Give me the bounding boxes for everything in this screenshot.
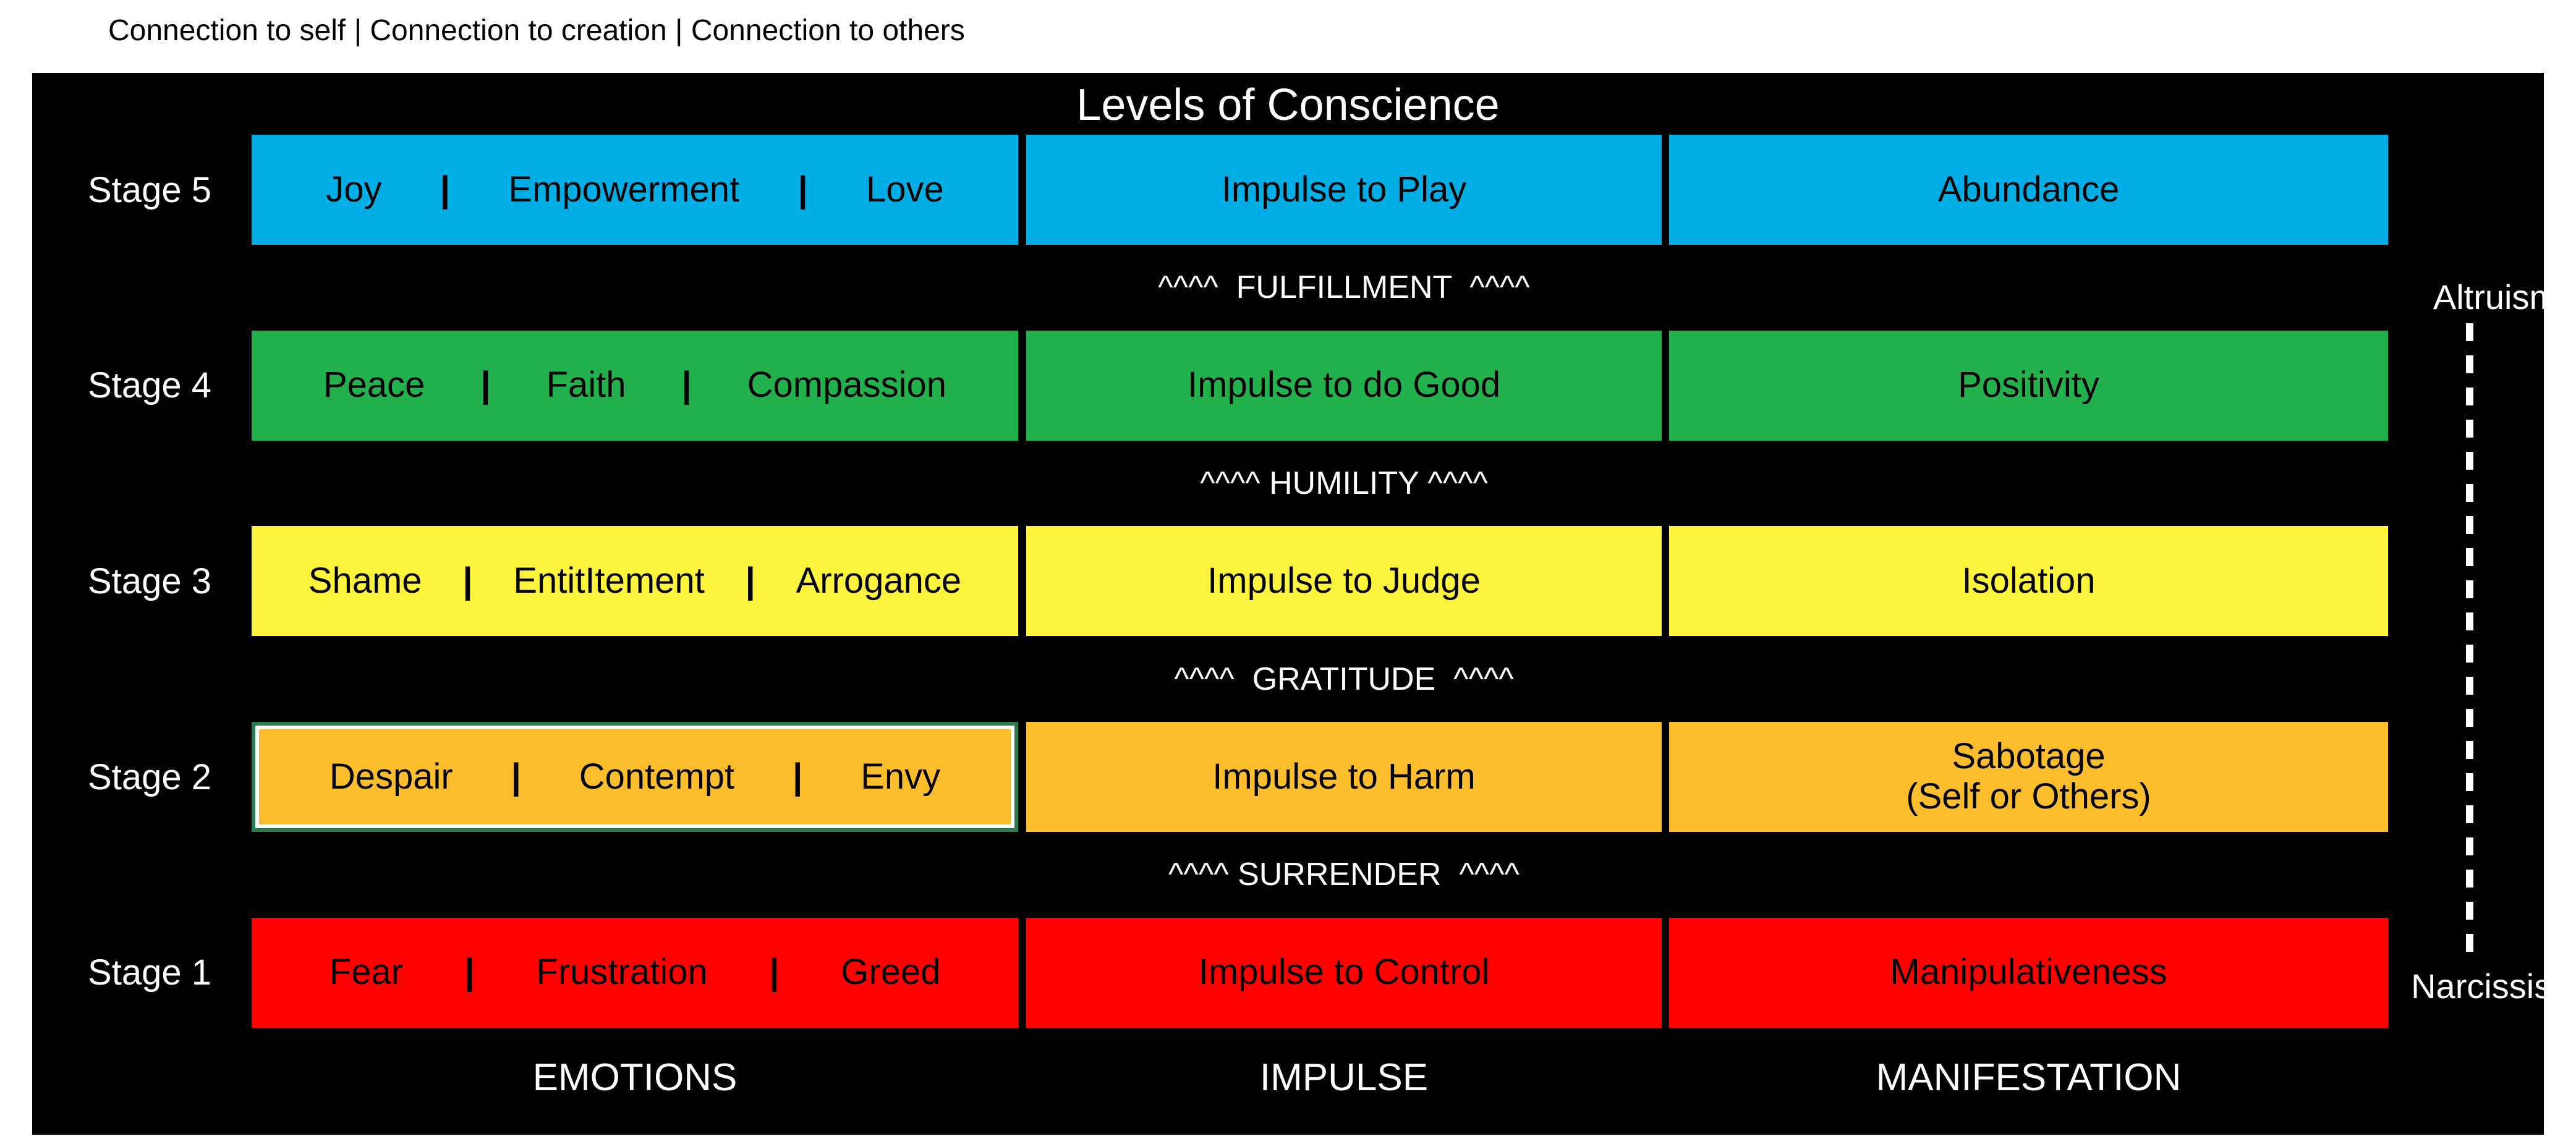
impulse-cell-stage-4[interactable]: Impulse to do Good xyxy=(1026,331,1662,441)
stage-label: Stage 1 xyxy=(57,918,242,1028)
axis-label-altruism: Altruism xyxy=(2394,277,2576,317)
stage-row: Stage 2Despair|Contempt|EnvyImpulse to H… xyxy=(32,722,2544,832)
emotions-cell-stage-5[interactable]: Joy|Empowerment|Love xyxy=(252,135,1018,245)
altruism-narcissism-axis-line xyxy=(2466,323,2473,963)
emotion-word: Frustration xyxy=(476,952,768,993)
emotion-separator: | xyxy=(479,365,491,405)
emotion-separator: | xyxy=(796,170,809,210)
emotion-word: Contempt xyxy=(522,757,791,797)
emotions-cell-stage-2[interactable]: Despair|Contempt|Envy xyxy=(252,722,1018,832)
impulse-cell-stage-1[interactable]: Impulse to Control xyxy=(1026,918,1662,1028)
page-title: Levels of Conscience xyxy=(32,83,2544,127)
emotion-word: Fear xyxy=(269,952,464,993)
stage-label: Stage 5 xyxy=(57,135,242,245)
transition-divider: ^^^^ SURRENDER ^^^^ xyxy=(32,854,2544,896)
stage-label: Stage 4 xyxy=(57,331,242,441)
emotion-word: Empowerment xyxy=(451,170,796,210)
stage-row: Stage 3Shame|EntitItement|ArroganceImpul… xyxy=(32,526,2544,636)
transition-divider-label: ^^^^ GRATITUDE ^^^^ xyxy=(1026,661,1662,698)
emotions-cell-stage-3[interactable]: Shame|EntitItement|Arrogance xyxy=(252,526,1018,636)
levels-of-conscience-chart: Levels of Conscience Stage 5Joy|Empowerm… xyxy=(32,73,2544,1135)
emotion-word: EntitItement xyxy=(474,561,744,601)
stage-label: Stage 3 xyxy=(57,526,242,636)
column-heading-impulse: IMPULSE xyxy=(1026,1049,1662,1105)
transition-divider-label: ^^^^ HUMILITY ^^^^ xyxy=(1026,465,1662,502)
manifestation-cell-stage-5[interactable]: Abundance xyxy=(1669,135,2388,245)
stage-row: Stage 1Fear|Frustration|GreedImpulse to … xyxy=(32,918,2544,1028)
transition-divider: ^^^^ GRATITUDE ^^^^ xyxy=(32,658,2544,700)
emotion-separator: | xyxy=(461,561,474,601)
emotion-word: Arrogance xyxy=(757,561,1001,601)
transition-divider: ^^^^ HUMILITY ^^^^ xyxy=(32,462,2544,504)
emotions-cell-stage-4[interactable]: Peace|Faith|Compassion xyxy=(252,331,1018,441)
emotion-separator: | xyxy=(768,952,780,993)
emotion-word: Shame xyxy=(269,561,461,601)
manifestation-cell-stage-1[interactable]: Manipulativeness xyxy=(1669,918,2388,1028)
stage-row: Stage 5Joy|Empowerment|LoveImpulse to Pl… xyxy=(32,135,2544,245)
impulse-cell-stage-2[interactable]: Impulse to Harm xyxy=(1026,722,1662,832)
emotion-separator: | xyxy=(439,170,451,210)
emotion-separator: | xyxy=(680,365,692,405)
emotion-word: Love xyxy=(809,170,1001,210)
emotion-word: Greed xyxy=(781,952,1001,993)
stage-row: Stage 4Peace|Faith|CompassionImpulse to … xyxy=(32,331,2544,441)
top-caption: Connection to self | Connection to creat… xyxy=(108,14,965,48)
column-heading-manifestation: MANIFESTATION xyxy=(1669,1049,2388,1105)
emotion-word: Joy xyxy=(269,170,439,210)
column-heading-emotions: EMOTIONS xyxy=(252,1049,1018,1105)
transition-divider-label: ^^^^ FULFILLMENT ^^^^ xyxy=(1026,269,1662,306)
manifestation-cell-stage-2[interactable]: Sabotage (Self or Others) xyxy=(1669,722,2388,832)
manifestation-cell-stage-3[interactable]: Isolation xyxy=(1669,526,2388,636)
emotion-separator: | xyxy=(791,757,804,797)
manifestation-cell-stage-4[interactable]: Positivity xyxy=(1669,331,2388,441)
emotion-word: Compassion xyxy=(693,365,1001,405)
emotions-cell-stage-1[interactable]: Fear|Frustration|Greed xyxy=(252,918,1018,1028)
emotion-separator: | xyxy=(464,952,476,993)
transition-divider-label: ^^^^ SURRENDER ^^^^ xyxy=(1026,856,1662,893)
emotion-word: Faith xyxy=(492,365,681,405)
emotion-separator: | xyxy=(744,561,757,601)
emotion-word: Envy xyxy=(804,757,997,797)
emotion-word: Despair xyxy=(273,757,510,797)
axis-label-narcissism: Narcissism xyxy=(2394,966,2576,1006)
emotion-word: Peace xyxy=(269,365,479,405)
stage-label: Stage 2 xyxy=(57,722,242,832)
impulse-cell-stage-3[interactable]: Impulse to Judge xyxy=(1026,526,1662,636)
impulse-cell-stage-5[interactable]: Impulse to Play xyxy=(1026,135,1662,245)
transition-divider: ^^^^ FULFILLMENT ^^^^ xyxy=(32,266,2544,308)
emotion-separator: | xyxy=(510,757,522,797)
